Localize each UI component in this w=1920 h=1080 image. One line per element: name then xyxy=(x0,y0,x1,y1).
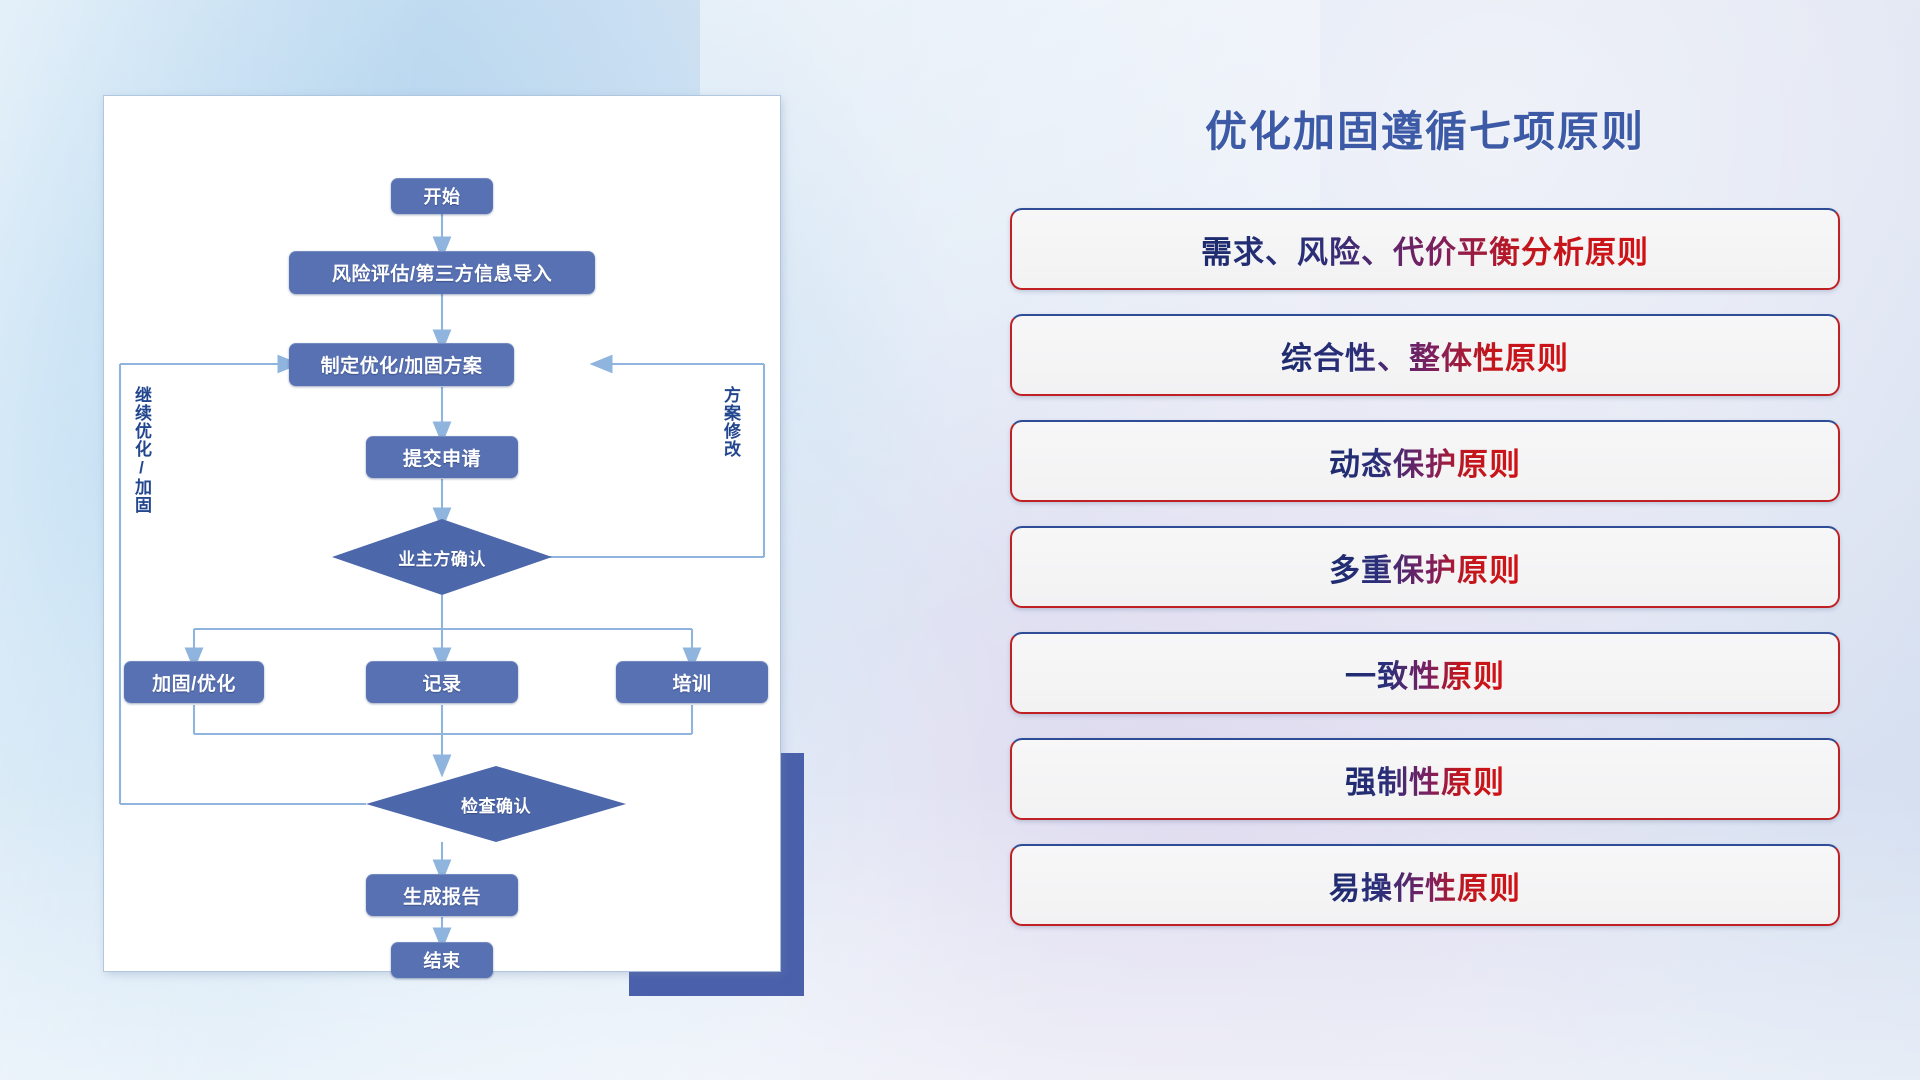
flow-node-reinforce-optimize[interactable]: 加固/优化 xyxy=(124,661,264,703)
flow-node-risk-assessment-label: 风险评估/第三方信息导入 xyxy=(332,259,552,286)
flow-node-check-confirm-label: 检查确认 xyxy=(461,792,531,817)
principle-card-7[interactable]: 易操作性原则 xyxy=(1010,844,1840,926)
flowchart-panel: 开始 风险评估/第三方信息导入 制定优化/加固方案 提交申请 业主方确认 加固/… xyxy=(104,96,804,996)
principle-card-6[interactable]: 强制性原则 xyxy=(1010,738,1840,820)
principle-label: 一致性原则 xyxy=(1345,651,1505,696)
flow-node-owner-confirm[interactable]: 业主方确认 xyxy=(332,519,552,595)
principle-label: 需求、风险、代价平衡分析原则 xyxy=(1201,227,1649,272)
flowchart-card: 开始 风险评估/第三方信息导入 制定优化/加固方案 提交申请 业主方确认 加固/… xyxy=(104,96,780,971)
flow-edge-label-right-loop: 方案修改 xyxy=(721,386,739,458)
principle-label: 易操作性原则 xyxy=(1329,863,1521,908)
flow-node-end-label: 结束 xyxy=(424,947,461,973)
principle-label: 动态保护原则 xyxy=(1329,439,1521,484)
flow-node-end[interactable]: 结束 xyxy=(391,942,493,978)
flow-node-check-confirm[interactable]: 检查确认 xyxy=(366,766,626,842)
flow-node-start-label: 开始 xyxy=(424,183,461,209)
principles-panel: 优化加固遵循七项原则 需求、风险、代价平衡分析原则 综合性、整体性原则 动态保护… xyxy=(1010,80,1840,1020)
flow-node-risk-assessment[interactable]: 风险评估/第三方信息导入 xyxy=(289,251,595,294)
flow-node-make-plan[interactable]: 制定优化/加固方案 xyxy=(289,343,514,386)
flow-node-owner-confirm-label: 业主方确认 xyxy=(398,545,486,570)
principle-card-2[interactable]: 综合性、整体性原则 xyxy=(1010,314,1840,396)
flow-node-record-label: 记录 xyxy=(422,669,461,696)
principle-label: 综合性、整体性原则 xyxy=(1281,333,1569,378)
flow-node-record[interactable]: 记录 xyxy=(366,661,518,703)
flow-edge-label-left-loop: 继续优化/加固 xyxy=(132,386,150,514)
principle-card-3[interactable]: 动态保护原则 xyxy=(1010,420,1840,502)
panel-title: 优化加固遵循七项原则 xyxy=(1010,98,1840,159)
flow-node-reinforce-optimize-label: 加固/优化 xyxy=(152,669,236,696)
flow-node-generate-report[interactable]: 生成报告 xyxy=(366,874,518,916)
flow-node-submit-application[interactable]: 提交申请 xyxy=(366,436,518,478)
flow-node-make-plan-label: 制定优化/加固方案 xyxy=(321,351,483,378)
principles-list: 需求、风险、代价平衡分析原则 综合性、整体性原则 动态保护原则 多重保护原则 一… xyxy=(1010,208,1840,950)
principle-card-1[interactable]: 需求、风险、代价平衡分析原则 xyxy=(1010,208,1840,290)
principle-label: 强制性原则 xyxy=(1345,757,1505,802)
flow-node-submit-application-label: 提交申请 xyxy=(403,444,481,471)
principle-card-5[interactable]: 一致性原则 xyxy=(1010,632,1840,714)
principle-card-4[interactable]: 多重保护原则 xyxy=(1010,526,1840,608)
principle-label: 多重保护原则 xyxy=(1329,545,1521,590)
flow-node-generate-report-label: 生成报告 xyxy=(403,882,481,909)
flow-node-training-label: 培训 xyxy=(672,669,711,696)
flow-node-training[interactable]: 培训 xyxy=(616,661,768,703)
flow-node-start[interactable]: 开始 xyxy=(391,178,493,214)
